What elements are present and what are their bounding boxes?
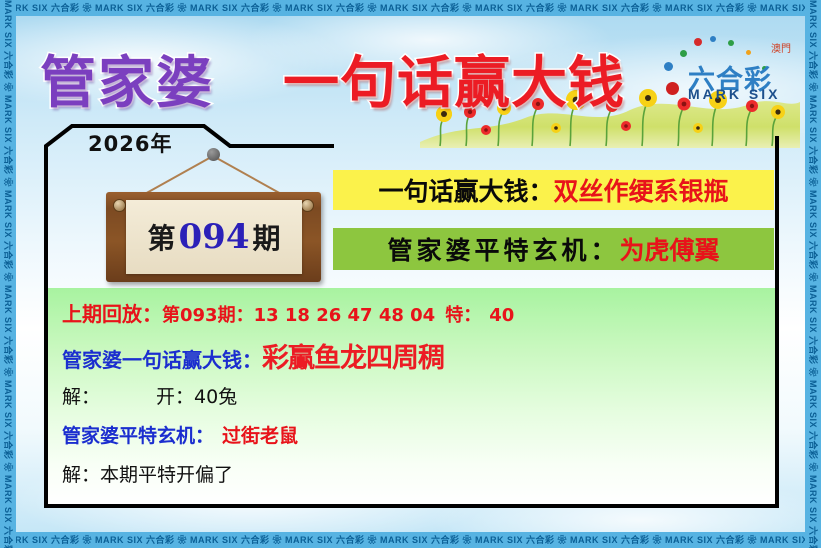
banner-tip: 管家婆平特玄机： 为虎傅翼 bbox=[333, 228, 774, 270]
border-left-text: MARK SIX 六合彩 ❀ MARK SIX 六合彩 ❀ MARK SIX 六… bbox=[0, 0, 16, 548]
banner-phrase: 一句话赢大钱： 双丝作绠系银瓶 bbox=[333, 170, 774, 210]
issue-text: 第094期 bbox=[126, 200, 302, 274]
replay-numbers: 13 18 26 47 48 04 bbox=[254, 305, 436, 326]
replay-label: 上期回放： bbox=[62, 302, 162, 326]
answer-line-2: 解：本期平特开偏了 bbox=[62, 460, 233, 487]
logo-name-en: MARK SIX bbox=[688, 86, 780, 102]
border-top-text: MARK SIX 六合彩 ❀ MARK SIX 六合彩 ❀ MARK SIX 六… bbox=[0, 0, 821, 16]
page-title-slogan: 一句话赢大钱 bbox=[283, 38, 625, 119]
border-right-text: MARK SIX 六合彩 ❀ MARK SIX 六合彩 ❀ MARK SIX 六… bbox=[805, 0, 821, 548]
logo-region-label: 澳門 bbox=[771, 40, 791, 55]
banner-phrase-value: 双丝作绠系银瓶 bbox=[554, 172, 729, 208]
tip-label: 管家婆平特玄机： bbox=[62, 425, 214, 447]
answer2-value: 本期平特开偏了 bbox=[100, 464, 233, 486]
border-bottom-text: MARK SIX 六合彩 ❀ MARK SIX 六合彩 ❀ MARK SIX 六… bbox=[0, 532, 821, 548]
plaque-paper: 第094期 bbox=[126, 200, 302, 274]
replay-special-label: 特： bbox=[435, 305, 481, 326]
phrase-value: 彩鸁鱼龙四周稠 bbox=[262, 343, 444, 374]
header: 管家婆 一句话赢大钱 澳門 六合彩 MARK SIX bbox=[0, 16, 821, 126]
replay-issue: 第093期： bbox=[162, 305, 254, 326]
page-title-brand: 管家婆 bbox=[40, 38, 214, 119]
plaque-screw-right bbox=[301, 199, 314, 212]
issue-suffix: 期 bbox=[252, 217, 280, 257]
banner-tip-label: 管家婆平特玄机： bbox=[387, 231, 619, 267]
border-top: MARK SIX 六合彩 ❀ MARK SIX 六合彩 ❀ MARK SIX 六… bbox=[0, 0, 821, 16]
banner-phrase-label: 一句话赢大钱： bbox=[378, 172, 553, 208]
issue-prefix: 第 bbox=[147, 217, 175, 257]
plaque-screw-left bbox=[113, 199, 126, 212]
replay-special-number: 40 bbox=[481, 305, 514, 326]
issue-number: 094 bbox=[176, 217, 253, 257]
plaque-nail bbox=[207, 148, 220, 161]
border-bottom: MARK SIX 六合彩 ❀ MARK SIX 六合彩 ❀ MARK SIX 六… bbox=[0, 532, 821, 548]
page-root: 管家婆 一句话赢大钱 澳門 六合彩 MARK SIX 2026年 bbox=[0, 0, 821, 548]
answer-line-1: 解：开：40兔 bbox=[62, 382, 237, 409]
answer2-label: 解： bbox=[62, 464, 100, 486]
mark-six-logo: 澳門 六合彩 MARK SIX bbox=[658, 36, 793, 108]
plaque-board: 第094期 bbox=[106, 192, 321, 282]
info-panel: 上期回放：第093期：13 18 26 47 48 04特：40 管家婆一句话赢… bbox=[48, 288, 775, 504]
answer1-label: 解： bbox=[62, 386, 100, 408]
answer1-open-label: 开： bbox=[156, 386, 194, 408]
issue-plaque: 第094期 bbox=[106, 148, 321, 283]
year-label: 2026年 bbox=[88, 128, 172, 158]
phrase-line: 管家婆一句话赢大钱：彩鸁鱼龙四周稠 bbox=[62, 336, 444, 375]
replay-line: 上期回放：第093期：13 18 26 47 48 04特：40 bbox=[62, 298, 514, 327]
tip-line: 管家婆平特玄机：过街老鼠 bbox=[62, 421, 298, 448]
border-left: MARK SIX 六合彩 ❀ MARK SIX 六合彩 ❀ MARK SIX 六… bbox=[0, 0, 16, 548]
border-right: MARK SIX 六合彩 ❀ MARK SIX 六合彩 ❀ MARK SIX 六… bbox=[805, 0, 821, 548]
tip-value: 过街老鼠 bbox=[214, 425, 298, 447]
phrase-label: 管家婆一句话赢大钱： bbox=[62, 348, 262, 372]
banner-tip-value: 为虎傅翼 bbox=[620, 231, 720, 267]
answer1-value: 40兔 bbox=[194, 386, 237, 408]
